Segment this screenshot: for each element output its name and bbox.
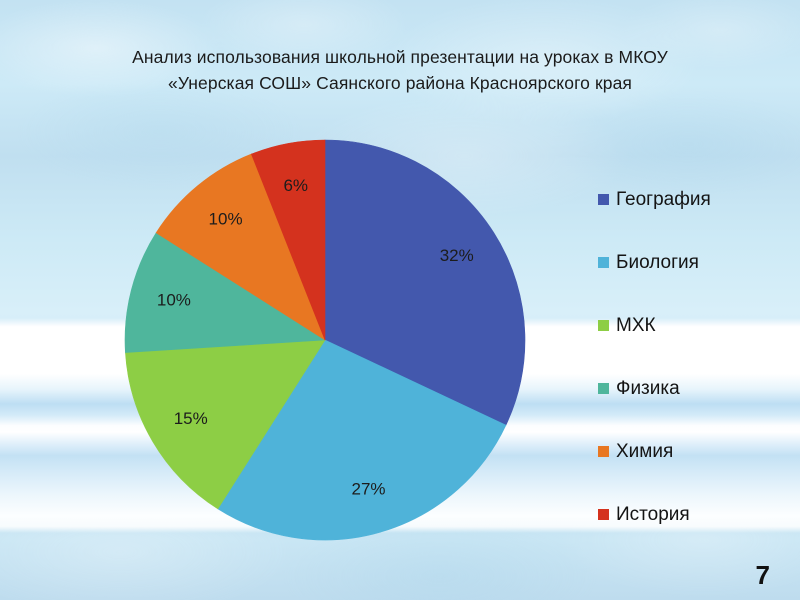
- legend-item-label: История: [616, 505, 690, 524]
- page-title-line-2: «Унерская СОШ» Саянского района Краснояр…: [22, 70, 778, 96]
- legend-item-label: Физика: [616, 379, 680, 398]
- page-title: Анализ использования школьной презентаци…: [22, 44, 778, 96]
- legend-item-label: География: [616, 190, 711, 209]
- legend-item-fizika[interactable]: Физика: [598, 357, 794, 420]
- legend-item-label: Химия: [616, 442, 673, 461]
- page-title-line-1: Анализ использования школьной презентаци…: [22, 44, 778, 70]
- legend-item-label: Биология: [616, 253, 699, 272]
- legend-item-istoriya[interactable]: История: [598, 483, 794, 546]
- legend-swatch-icon: [598, 383, 609, 394]
- pie-slice-label: 27%: [352, 479, 386, 498]
- legend-swatch-icon: [598, 446, 609, 457]
- page-number: 7: [756, 562, 770, 588]
- pie-slice-label: 10%: [209, 209, 243, 228]
- slide: Анализ использования школьной презентаци…: [0, 0, 800, 600]
- legend-item-himiya[interactable]: Химия: [598, 420, 794, 483]
- pie-slice-label: 32%: [440, 246, 474, 265]
- legend-swatch-icon: [598, 320, 609, 331]
- legend-item-label: МХК: [616, 316, 656, 335]
- legend-swatch-icon: [598, 509, 609, 520]
- pie-slice-label: 15%: [174, 409, 208, 428]
- legend-item-geografiya[interactable]: География: [598, 168, 794, 231]
- pie-slice-label: 10%: [157, 291, 191, 310]
- legend-item-biologiya[interactable]: Биология: [598, 231, 794, 294]
- legend-item-mhk[interactable]: МХК: [598, 294, 794, 357]
- pie-slice-label: 6%: [283, 176, 308, 195]
- legend-swatch-icon: [598, 194, 609, 205]
- pie-chart: 32%27%15%10%10%6%: [118, 132, 538, 552]
- chart-legend: География Биология МХК Физика Химия Исто…: [598, 168, 794, 546]
- pie-chart-svg: 32%27%15%10%10%6%: [118, 132, 538, 552]
- legend-swatch-icon: [598, 257, 609, 268]
